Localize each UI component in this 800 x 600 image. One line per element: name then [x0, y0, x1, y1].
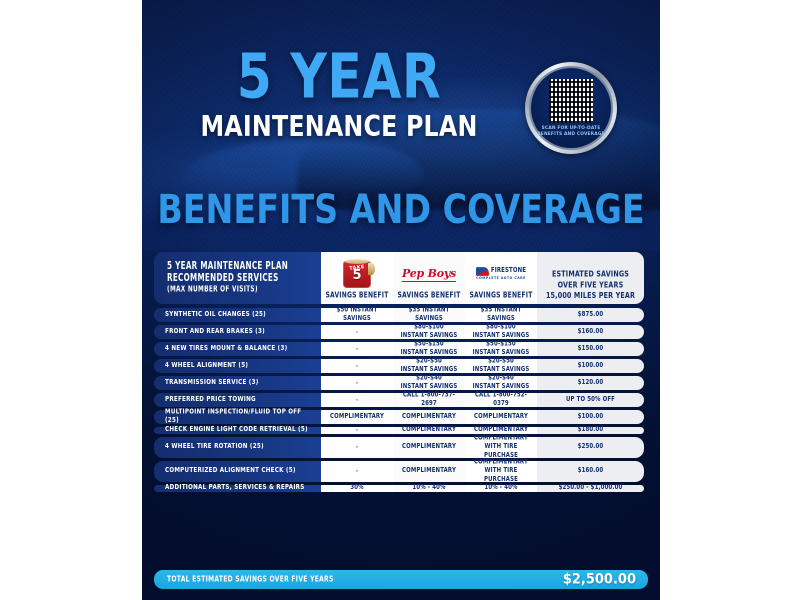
header-firestone-column: Firestone COMPLETE AUTO CARE SAVINGS BEN…: [465, 252, 537, 304]
row-service-text: CHECK ENGINE LIGHT CODE RETRIEVAL (5): [165, 426, 308, 435]
row-cell-firestone-text: CALL 1-800-752-0379: [468, 391, 534, 409]
row-cell-take5: COMPLIMENTARY: [321, 410, 393, 424]
row-service-text: COMPUTERIZED ALIGNMENT CHECK (5): [165, 467, 296, 476]
row-cell-take5-text: -: [355, 396, 358, 405]
row-service-label: ADDITIONAL PARTS, SERVICES & REPAIRS: [154, 485, 321, 492]
row-service-text: TRANSMISSION SERVICE (3): [165, 379, 259, 388]
qr-code-icon[interactable]: [549, 79, 593, 123]
table-row: 4 WHEEL TIRE ROTATION (25)-COMPLIMENTARY…: [154, 437, 648, 458]
header-service-lines: 5 YEAR MAINTENANCE PLAN RECOMMENDED SERV…: [167, 260, 288, 297]
row-cell-estimated-savings: $150.00: [537, 342, 644, 356]
row-cell-estimated-savings-text: $160.00: [578, 328, 604, 337]
row-service-text: SYNTHETIC OIL CHANGES (25): [165, 311, 266, 320]
total-savings-label: TOTAL ESTIMATED SAVINGS OVER FIVE YEARS: [167, 575, 334, 584]
header-estimated-savings-column: ESTIMATED SAVINGS OVER FIVE YEARS 15,000…: [537, 252, 644, 304]
header-service-column: 5 YEAR MAINTENANCE PLAN RECOMMENDED SERV…: [154, 252, 321, 304]
row-cell-pepboys: $80-$100 INSTANT SAVINGS: [393, 325, 465, 339]
row-cell-pepboys-text: COMPLIMENTARY: [402, 443, 456, 452]
row-cell-pepboys: $35 INSTANT SAVINGS: [393, 308, 465, 322]
row-cell-take5: -: [321, 427, 393, 434]
row-cell-estimated-savings-text: $250.00 - $1,000.00: [559, 484, 623, 493]
row-cell-estimated-savings-text: $120.00: [578, 379, 604, 388]
table-row: COMPUTERIZED ALIGNMENT CHECK (5)-COMPLIM…: [154, 461, 648, 482]
row-cell-take5: -: [321, 359, 393, 373]
row-cell-pepboys-text: COMPLIMENTARY: [402, 426, 456, 435]
hero-title-line2: MAINTENANCE PLAN: [173, 112, 506, 141]
row-cell-pepboys-text: COMPLIMENTARY: [402, 413, 456, 422]
row-service-label: 4 NEW TIRES MOUNT & BALANCE (3): [154, 342, 321, 356]
row-cell-pepboys-text: 10% - 40%: [412, 484, 445, 493]
pepboys-logo-text: Pep Boys: [402, 267, 456, 282]
row-cell-take5: 30%: [321, 485, 393, 492]
header-service-line3: (MAX NUMBER OF VISITS): [167, 283, 288, 298]
row-cell-pepboys: COMPLIMENTARY: [393, 410, 465, 424]
qr-badge-caption: SCAN FOR UP-TO-DATE BENEFITS AND COVERAG…: [532, 126, 610, 138]
pep-boys-logo: Pep Boys: [402, 260, 456, 288]
row-cell-firestone: $50-$150 INSTANT SAVINGS: [465, 342, 537, 356]
table-body: SYNTHETIC OIL CHANGES (25)$50 INSTANT SA…: [154, 308, 648, 492]
take5-logo-number: 5: [352, 270, 361, 282]
row-cell-firestone-text: COMPLIMENTARY WITH TIRE PURCHASE: [468, 458, 534, 484]
table-row: FRONT AND REAR BRAKES (3)-$80-$100 INSTA…: [154, 325, 648, 339]
row-cell-firestone: CALL 1-800-752-0379: [465, 393, 537, 407]
header-take5-column: TAKE 5 SAVINGS BENEFIT: [321, 252, 393, 304]
row-service-text: PREFERRED PRICE TOWING: [165, 396, 256, 405]
row-cell-firestone: $35 INSTANT SAVINGS: [465, 308, 537, 322]
row-cell-pepboys: 10% - 40%: [393, 485, 465, 492]
table-row: 4 NEW TIRES MOUNT & BALANCE (3)-$50-$150…: [154, 342, 648, 356]
row-cell-firestone: $20-$50 INSTANT SAVINGS: [465, 359, 537, 373]
benefits-table: 5 YEAR MAINTENANCE PLAN RECOMMENDED SERV…: [154, 252, 648, 495]
row-cell-firestone-text: COMPLIMENTARY: [474, 413, 528, 422]
take-5-can-icon: TAKE 5: [343, 261, 371, 288]
hero-title-block: 5 YEAR MAINTENANCE PLAN: [164, 48, 514, 137]
row-cell-estimated-savings-text: $180.00: [578, 426, 604, 435]
row-cell-estimated-savings-text: $100.00: [578, 413, 604, 422]
row-cell-estimated-savings: $875.00: [537, 308, 644, 322]
row-service-label: PREFERRED PRICE TOWING: [154, 393, 321, 407]
row-cell-firestone: COMPLIMENTARY WITH TIRE PURCHASE: [465, 437, 537, 458]
row-cell-estimated-savings: $120.00: [537, 376, 644, 390]
row-cell-pepboys: COMPLIMENTARY: [393, 437, 465, 458]
row-cell-pepboys: CALL 1-800-737-2697: [393, 393, 465, 407]
qr-badge[interactable]: SCAN FOR UP-TO-DATE BENEFITS AND COVERAG…: [525, 62, 617, 154]
row-cell-pepboys-text: $35 INSTANT SAVINGS: [396, 306, 462, 324]
row-cell-estimated-savings: $180.00: [537, 427, 644, 434]
total-savings-bar: TOTAL ESTIMATED SAVINGS OVER FIVE YEARS …: [154, 570, 648, 589]
row-cell-estimated-savings: $100.00: [537, 359, 644, 373]
row-cell-firestone: 10% - 40%: [465, 485, 537, 492]
row-cell-firestone: $80-$100 INSTANT SAVINGS: [465, 325, 537, 339]
table-row: ADDITIONAL PARTS, SERVICES & REPAIRS30%1…: [154, 485, 648, 492]
row-cell-firestone-text: $20-$40 INSTANT SAVINGS: [473, 374, 530, 392]
row-cell-estimated-savings: $160.00: [537, 461, 644, 482]
row-cell-firestone: COMPLIMENTARY: [465, 410, 537, 424]
row-cell-pepboys: $50-$150 INSTANT SAVINGS: [393, 342, 465, 356]
row-service-label: 4 WHEEL TIRE ROTATION (25): [154, 437, 321, 458]
row-cell-take5-text: -: [355, 443, 358, 452]
firestone-logo-group: Firestone COMPLETE AUTO CARE: [476, 268, 526, 280]
row-service-label: CHECK ENGINE LIGHT CODE RETRIEVAL (5): [154, 427, 321, 434]
flyer-page: 5 YEAR MAINTENANCE PLAN SCAN FOR UP-TO-D…: [0, 0, 800, 600]
firestone-logo-subtitle: COMPLETE AUTO CARE: [476, 276, 526, 280]
header-pepboys-column: Pep Boys SAVINGS BENEFIT: [393, 252, 465, 304]
header-estimated-savings-text: ESTIMATED SAVINGS OVER FIVE YEARS 15,000…: [546, 269, 635, 301]
row-cell-pepboys: COMPLIMENTARY: [393, 427, 465, 434]
row-cell-pepboys-text: $20-$50 INSTANT SAVINGS: [401, 357, 458, 375]
row-cell-estimated-savings-text: $160.00: [578, 467, 604, 476]
row-cell-estimated-savings: $250.00 - $1,000.00: [537, 485, 644, 492]
row-cell-estimated-savings-text: $150.00: [578, 345, 604, 354]
row-cell-estimated-savings-text: $250.00: [578, 443, 604, 452]
table-row: 4 WHEEL ALIGNMENT (5)-$20-$50 INSTANT SA…: [154, 359, 648, 373]
row-cell-pepboys: $20-$50 INSTANT SAVINGS: [393, 359, 465, 373]
table-row: CHECK ENGINE LIGHT CODE RETRIEVAL (5)-CO…: [154, 427, 648, 434]
table-row: TRANSMISSION SERVICE (3)-$20-$40 INSTANT…: [154, 376, 648, 390]
row-cell-take5-text: $50 INSTANT SAVINGS: [324, 306, 390, 324]
row-cell-estimated-savings-text: $100.00: [578, 362, 604, 371]
row-cell-estimated-savings-text: $875.00: [578, 311, 604, 320]
table-row: SYNTHETIC OIL CHANGES (25)$50 INSTANT SA…: [154, 308, 648, 322]
firestone-logo-text: Firestone: [491, 267, 526, 276]
row-cell-take5-text: 30%: [350, 484, 363, 493]
row-cell-take5-text: -: [355, 345, 358, 354]
total-savings-amount: $2,500.00: [563, 571, 636, 588]
row-cell-firestone-text: 10% - 40%: [484, 484, 517, 493]
header-pepboys-benefit: SAVINGS BENEFIT: [397, 291, 460, 300]
row-cell-take5-text: -: [355, 426, 358, 435]
row-cell-firestone-text: COMPLIMENTARY WITH TIRE PURCHASE: [468, 434, 534, 460]
row-cell-firestone: $20-$40 INSTANT SAVINGS: [465, 376, 537, 390]
row-cell-take5: -: [321, 437, 393, 458]
firestone-flag-icon: [476, 267, 489, 276]
table-header-row: 5 YEAR MAINTENANCE PLAN RECOMMENDED SERV…: [154, 252, 648, 304]
row-cell-firestone-text: $35 INSTANT SAVINGS: [468, 306, 534, 324]
row-cell-take5: -: [321, 393, 393, 407]
row-cell-pepboys-text: $50-$150 INSTANT SAVINGS: [401, 340, 458, 358]
row-cell-pepboys: $20-$40 INSTANT SAVINGS: [393, 376, 465, 390]
row-cell-firestone: COMPLIMENTARY: [465, 427, 537, 434]
section-title: BENEFITS AND COVERAGE: [147, 190, 655, 230]
row-service-label: MULTIPOINT INSPECTION/FLUID TOP OFF (25): [154, 410, 321, 424]
row-cell-pepboys-text: $20-$40 INSTANT SAVINGS: [401, 374, 458, 392]
row-cell-take5: $50 INSTANT SAVINGS: [321, 308, 393, 322]
header-take5-benefit: SAVINGS BENEFIT: [325, 291, 388, 300]
qr-badge-inner: SCAN FOR UP-TO-DATE BENEFITS AND COVERAG…: [529, 66, 613, 150]
row-service-label: SYNTHETIC OIL CHANGES (25): [154, 308, 321, 322]
row-cell-take5: -: [321, 461, 393, 482]
row-cell-estimated-savings: $250.00: [537, 437, 644, 458]
row-cell-firestone-text: $20-$50 INSTANT SAVINGS: [473, 357, 530, 375]
row-service-label: 4 WHEEL ALIGNMENT (5): [154, 359, 321, 373]
row-service-text: MULTIPOINT INSPECTION/FLUID TOP OFF (25): [165, 408, 312, 426]
row-cell-take5-text: -: [355, 379, 358, 388]
row-cell-pepboys-text: CALL 1-800-737-2697: [396, 391, 462, 409]
row-cell-take5-text: -: [355, 467, 358, 476]
table-row: PREFERRED PRICE TOWING-CALL 1-800-737-26…: [154, 393, 648, 407]
row-cell-estimated-savings: UP TO 50% OFF: [537, 393, 644, 407]
row-service-text: FRONT AND REAR BRAKES (3): [165, 328, 265, 337]
row-service-text: 4 WHEEL TIRE ROTATION (25): [165, 443, 264, 452]
firestone-logo-row: Firestone: [476, 268, 526, 275]
row-cell-take5-text: COMPLIMENTARY: [330, 413, 384, 422]
row-cell-take5-text: -: [355, 362, 358, 371]
row-service-text: ADDITIONAL PARTS, SERVICES & REPAIRS: [165, 484, 305, 493]
row-cell-pepboys: COMPLIMENTARY: [393, 461, 465, 482]
take-5-oil-change-logo: TAKE 5: [343, 260, 371, 288]
row-cell-take5-text: -: [355, 328, 358, 337]
row-cell-estimated-savings: $100.00: [537, 410, 644, 424]
row-cell-take5: -: [321, 342, 393, 356]
row-cell-take5: -: [321, 376, 393, 390]
row-cell-estimated-savings-text: UP TO 50% OFF: [566, 396, 615, 405]
row-cell-firestone: COMPLIMENTARY WITH TIRE PURCHASE: [465, 461, 537, 482]
table-row: MULTIPOINT INSPECTION/FLUID TOP OFF (25)…: [154, 410, 648, 424]
row-service-label: COMPUTERIZED ALIGNMENT CHECK (5): [154, 461, 321, 482]
row-cell-take5: -: [321, 325, 393, 339]
flyer-panel: 5 YEAR MAINTENANCE PLAN SCAN FOR UP-TO-D…: [142, 0, 660, 600]
row-service-text: 4 NEW TIRES MOUNT & BALANCE (3): [165, 345, 287, 354]
row-service-label: FRONT AND REAR BRAKES (3): [154, 325, 321, 339]
row-cell-pepboys-text: COMPLIMENTARY: [402, 467, 456, 476]
firestone-complete-auto-care-logo: Firestone COMPLETE AUTO CARE: [476, 260, 526, 288]
row-cell-firestone-text: $80-$100 INSTANT SAVINGS: [473, 323, 530, 341]
row-cell-estimated-savings: $160.00: [537, 325, 644, 339]
header-firestone-benefit: SAVINGS BENEFIT: [469, 291, 532, 300]
row-cell-firestone-text: $50-$150 INSTANT SAVINGS: [473, 340, 530, 358]
row-cell-pepboys-text: $80-$100 INSTANT SAVINGS: [401, 323, 458, 341]
row-service-text: 4 WHEEL ALIGNMENT (5): [165, 362, 248, 371]
row-service-label: TRANSMISSION SERVICE (3): [154, 376, 321, 390]
hero-title-line1: 5 YEAR: [169, 48, 509, 107]
